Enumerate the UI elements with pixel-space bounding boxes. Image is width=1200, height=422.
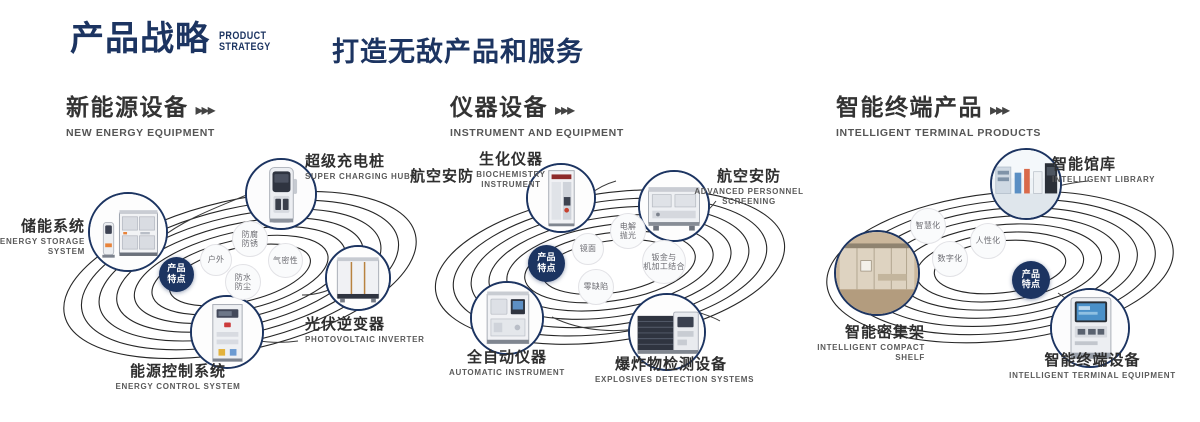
core-bubble-label: 产品特点: [167, 264, 186, 285]
section-title-en: INTELLIGENT TERMINAL PRODUCTS: [836, 127, 1041, 139]
page-title-en-line2: STRATEGY: [219, 42, 271, 53]
feature-bubble-label: 人性化: [976, 236, 1001, 246]
caption-smart-library: 智能馆库 INTELLIGENT LIBRARY: [1052, 155, 1155, 185]
caption-pv-inverter: 光伏逆变器 PHOTOVOLTAIC INVERTER: [305, 315, 425, 345]
caption-cn: 生化仪器: [446, 150, 576, 168]
section-title-cn: 仪器设备▸▸▸: [450, 95, 624, 123]
chevron-right-icon: ▸▸▸: [990, 100, 1008, 119]
caption-energy-control: 能源控制系统 ENERGY CONTROL SYSTEM: [78, 362, 278, 392]
section-title-cn: 智能终端产品▸▸▸: [836, 95, 1041, 123]
page-subtitle: 打造无敌产品和服务: [332, 30, 584, 69]
section-title-en: INSTRUMENT AND EQUIPMENT: [450, 127, 624, 139]
compact-shelf-photo: [836, 232, 918, 314]
caption-en: INTELLIGENT TERMINAL EQUIPMENT: [1005, 371, 1180, 381]
caption-en: AUTOMATIC INSTRUMENT: [428, 368, 586, 378]
node-photo-energy-control[interactable]: [190, 295, 264, 369]
caption-en: ENERGY STORAGESYSTEM: [0, 237, 85, 257]
caption-en: ENERGY CONTROL SYSTEM: [78, 382, 278, 392]
caption-cn: 爆炸物检测设备: [595, 355, 747, 373]
feature-bubble-label: 数字化: [938, 254, 963, 264]
cluster-new-energy: 产品特点 户外 防腐防锈 防水防尘 气密性 储能系统 ENERGY STORAG…: [40, 145, 440, 405]
node-photo-compact-shelf[interactable]: [834, 230, 920, 316]
feature-bubble-label: 防腐防锈: [242, 230, 259, 249]
node-photo-automatic-instrument[interactable]: [470, 281, 544, 355]
caption-automatic-instrument: 全自动仪器 AUTOMATIC INSTRUMENT: [428, 348, 586, 378]
caption-en: ADVANCED PERSONNELSCREENING: [690, 187, 808, 207]
feature-bubble-label: 钣金与机加工结合: [643, 253, 685, 272]
feature-bubble-anticorrosion[interactable]: 防腐防锈: [232, 221, 268, 257]
feature-bubble-humanized[interactable]: 人性化: [970, 223, 1006, 259]
caption-biochemistry-instrument: 生化仪器 BIOCHEMISTRYINSTRUMENT: [446, 150, 576, 190]
caption-cn: 航空安防: [690, 167, 808, 185]
caption-energy-storage: 储能系统 ENERGY STORAGESYSTEM: [0, 217, 85, 257]
caption-cn: 光伏逆变器: [305, 315, 425, 333]
caption-en: INTELLIGENT COMPACTSHELF: [795, 343, 925, 363]
feature-bubble-digital[interactable]: 数字化: [932, 241, 968, 277]
feature-bubble-label: 智慧化: [916, 221, 941, 231]
caption-advanced-screening: 航空安防 ADVANCED PERSONNELSCREENING: [690, 167, 808, 207]
node-photo-energy-storage[interactable]: [88, 192, 168, 272]
node-photo-pv-inverter[interactable]: [325, 245, 391, 311]
caption-cn: 智能馆库: [1052, 155, 1155, 173]
core-bubble-label: 产品特点: [1022, 270, 1041, 291]
feature-bubble-intelligent[interactable]: 智慧化: [910, 208, 946, 244]
section-title-intelligent-terminal: 智能终端产品▸▸▸ INTELLIGENT TERMINAL PRODUCTS: [836, 95, 1041, 139]
core-bubble-label: 产品特点: [537, 253, 556, 274]
feature-bubble-airtight[interactable]: 气密性: [268, 243, 303, 278]
feature-bubble-electropolishing[interactable]: 电解抛光: [610, 213, 646, 249]
feature-bubble-label: 户外: [208, 255, 225, 265]
caption-cn: 能源控制系统: [78, 362, 278, 380]
caption-en: PHOTOVOLTAIC INVERTER: [305, 335, 425, 345]
feature-bubble-mirror[interactable]: 镜面: [572, 233, 604, 265]
section-title-cn: 新能源设备▸▸▸: [66, 95, 215, 123]
pv-inverter-photo: [327, 247, 389, 309]
core-bubble-product-features[interactable]: 产品特点: [528, 245, 565, 282]
feature-bubble-zero-defect[interactable]: 零缺陷: [578, 269, 614, 305]
caption-en: INTELLIGENT LIBRARY: [1052, 175, 1155, 185]
caption-cn: 储能系统: [0, 217, 85, 235]
feature-bubble-label: 电解抛光: [620, 222, 637, 241]
feature-bubble-label: 气密性: [273, 256, 298, 266]
cluster-instrument: 产品特点 镜面 电解抛光 钣金与机加工结合 零缺陷 航空安防 生化仪器 BIOC…: [420, 145, 820, 405]
smart-library-photo: [992, 150, 1060, 218]
section-title-instrument: 仪器设备▸▸▸ INSTRUMENT AND EQUIPMENT: [450, 95, 624, 139]
page-title-cn: 产品战略: [70, 22, 210, 56]
caption-cn: 智能终端设备: [1005, 351, 1180, 369]
caption-explosives-detection: 爆炸物检测设备 EXPLOSIVES DETECTION SYSTEMS: [595, 355, 747, 385]
chevron-right-icon: ▸▸▸: [196, 100, 214, 119]
page-title-en: PRODUCT STRATEGY: [219, 31, 271, 53]
caption-en: BIOCHEMISTRYINSTRUMENT: [446, 170, 576, 190]
core-bubble-product-features[interactable]: 产品特点: [1012, 261, 1050, 299]
feature-bubble-waterproof[interactable]: 防水防尘: [225, 264, 261, 300]
core-bubble-product-features[interactable]: 产品特点: [159, 257, 194, 292]
control-cabinet-photo: [192, 297, 262, 367]
automatic-instrument-photo: [472, 283, 542, 353]
section-title-new-energy: 新能源设备▸▸▸ NEW ENERGY EQUIPMENT: [66, 95, 215, 139]
feature-bubble-label: 零缺陷: [584, 282, 609, 292]
caption-cn: 智能密集架: [795, 323, 925, 341]
feature-bubble-label: 防水防尘: [235, 273, 252, 292]
energy-storage-cabinet-photo: [90, 194, 166, 270]
chevron-right-icon: ▸▸▸: [555, 100, 573, 119]
section-title-en: NEW ENERGY EQUIPMENT: [66, 127, 215, 139]
feature-bubble-sheetmetal-machining[interactable]: 钣金与机加工结合: [642, 240, 686, 284]
feature-bubble-label: 镜面: [580, 244, 597, 254]
cluster-intelligent-terminal: 产品特点 智慧化 人性化 数字化 智能馆库 INTELLIGENT LIBRAR…: [800, 145, 1200, 405]
caption-terminal-equipment: 智能终端设备 INTELLIGENT TERMINAL EQUIPMENT: [1005, 351, 1180, 381]
caption-en: EXPLOSIVES DETECTION SYSTEMS: [595, 375, 747, 385]
caption-compact-shelf: 智能密集架 INTELLIGENT COMPACTSHELF: [795, 323, 925, 363]
page-title: 产品战略 PRODUCT STRATEGY: [70, 22, 282, 56]
caption-cn: 全自动仪器: [428, 348, 586, 366]
